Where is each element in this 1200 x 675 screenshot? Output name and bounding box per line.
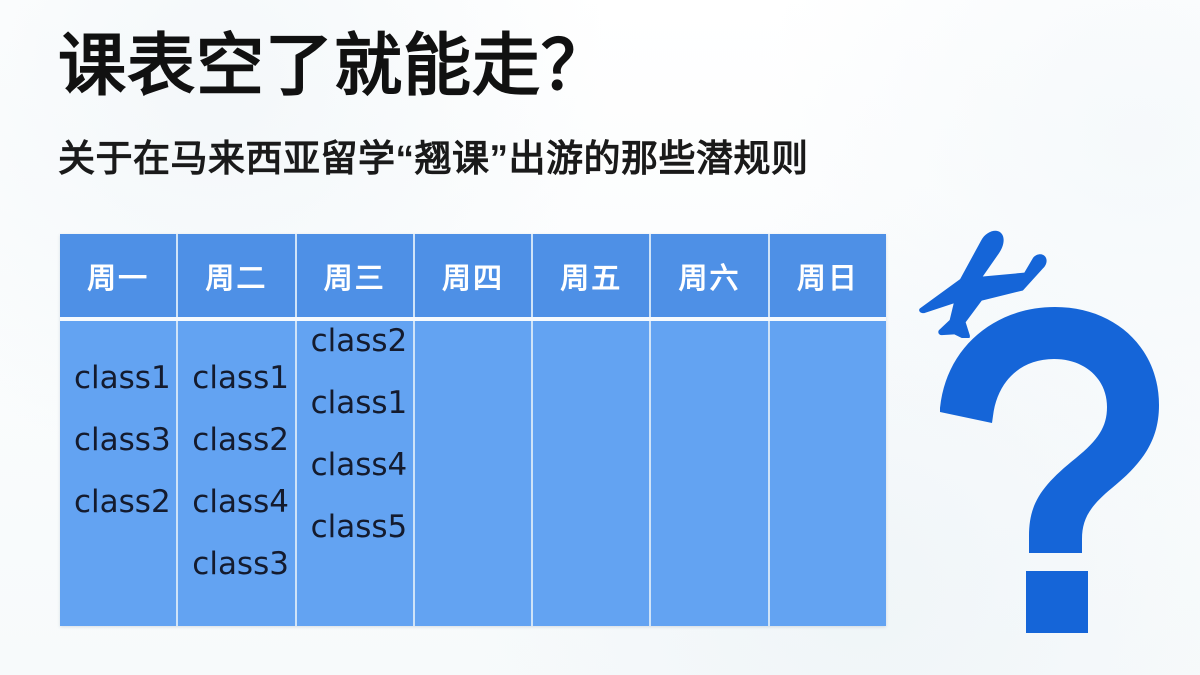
class-entry[interactable]: class5 xyxy=(311,496,407,558)
question-mark-icon xyxy=(930,305,1180,635)
class-entry[interactable]: class1 xyxy=(74,347,170,409)
timetable-day-cell[interactable]: class1class3class2 xyxy=(60,321,178,626)
class-entry[interactable]: class4 xyxy=(192,471,288,533)
class-entry[interactable]: class2 xyxy=(311,310,407,372)
class-entry[interactable]: class3 xyxy=(74,409,170,471)
timetable-day-cell[interactable] xyxy=(415,321,533,626)
timetable-day-cell[interactable]: class1class2class4class3 xyxy=(178,321,296,626)
timetable-day-cell[interactable] xyxy=(533,321,651,626)
timetable-day-cell[interactable] xyxy=(651,321,769,626)
page-subtitle: 关于在马来西亚留学“翘课”出游的那些潜规则 xyxy=(58,136,809,182)
timetable-day-cell[interactable] xyxy=(770,321,886,626)
class-entry-list: class1class3class2 xyxy=(74,347,170,533)
timetable-header-cell[interactable]: 周日 xyxy=(770,234,886,317)
timetable-header-cell[interactable]: 周一 xyxy=(60,234,178,317)
class-entry[interactable]: class2 xyxy=(192,409,288,471)
weekly-timetable: 周一周二周三周四周五周六周日 class1class3class2class1c… xyxy=(60,234,886,626)
class-entry[interactable]: class4 xyxy=(311,434,407,496)
timetable-header-row: 周一周二周三周四周五周六周日 xyxy=(60,234,886,317)
timetable-day-cell[interactable]: class2class1class4class5 xyxy=(297,321,415,626)
timetable-header-cell[interactable]: 周二 xyxy=(178,234,296,317)
class-entry-list: class1class2class4class3 xyxy=(192,347,288,595)
page-title: 课表空了就能走？ xyxy=(58,26,610,106)
class-entry[interactable]: class1 xyxy=(311,372,407,434)
class-entry-list: class2class1class4class5 xyxy=(311,310,407,558)
class-entry[interactable]: class3 xyxy=(192,533,288,595)
timetable-header-cell[interactable]: 周三 xyxy=(297,234,415,317)
class-entry[interactable]: class2 xyxy=(74,471,170,533)
timetable-header-cell[interactable]: 周五 xyxy=(533,234,651,317)
slide-canvas: 课表空了就能走？ 关于在马来西亚留学“翘课”出游的那些潜规则 周一周二周三周四周… xyxy=(0,0,1200,675)
timetable-header-cell[interactable]: 周四 xyxy=(415,234,533,317)
timetable-header-cell[interactable]: 周六 xyxy=(651,234,769,317)
timetable-body-row: class1class3class2class1class2class4clas… xyxy=(60,321,886,626)
class-entry[interactable]: class1 xyxy=(192,347,288,409)
